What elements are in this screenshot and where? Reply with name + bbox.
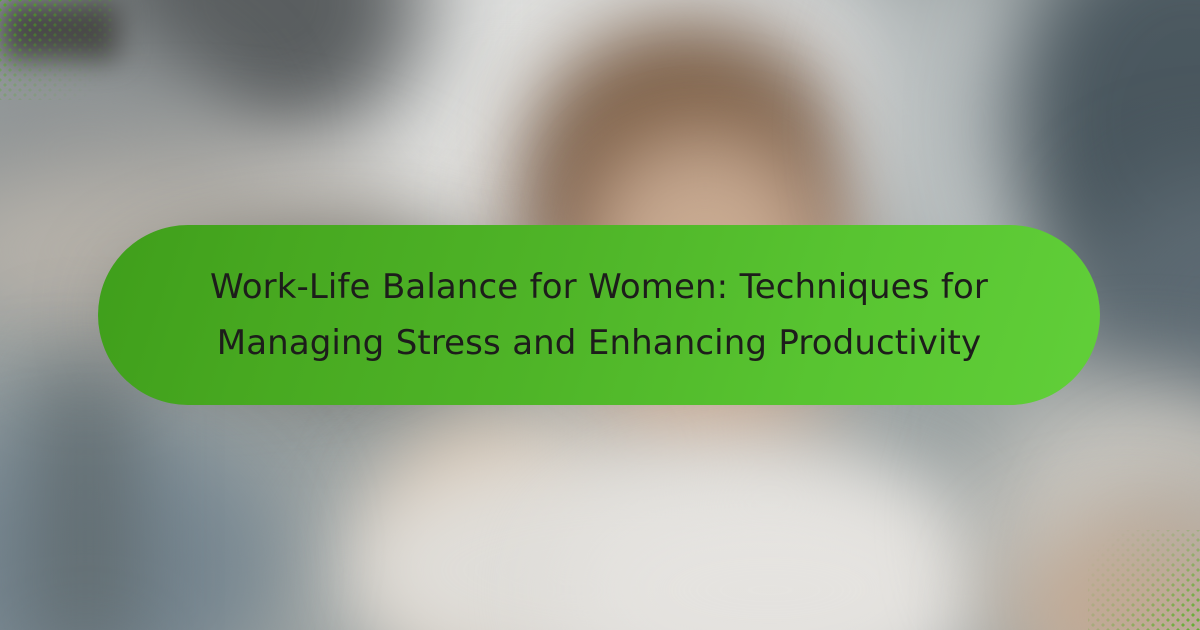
page-title: Work-Life Balance for Women: Techniques … [204,259,994,371]
share-card: Work-Life Balance for Women: Techniques … [0,0,1200,630]
title-banner: Work-Life Balance for Women: Techniques … [98,225,1100,405]
